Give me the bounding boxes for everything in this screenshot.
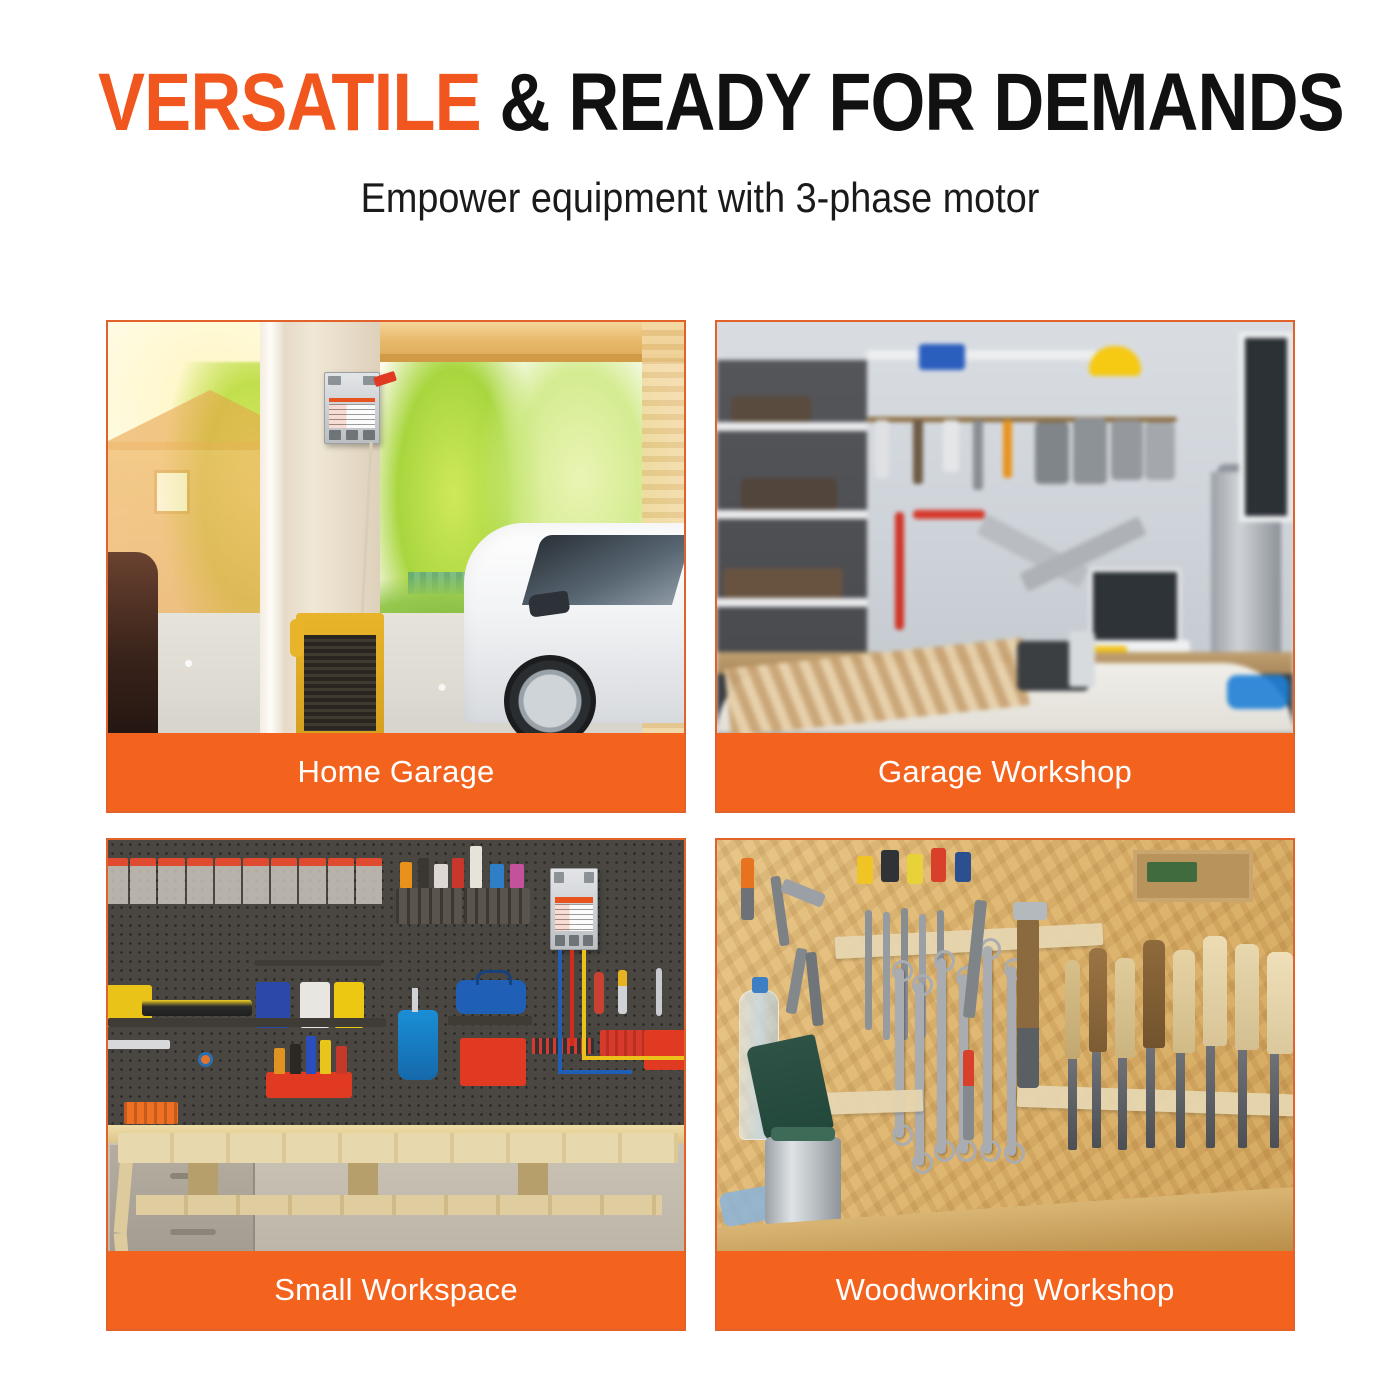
vevor-phase-converter (324, 372, 380, 444)
tool-rail (254, 960, 382, 966)
chisel-3 (1115, 958, 1135, 1150)
pallet-block-2 (348, 1163, 378, 1197)
orange-bin (124, 1102, 178, 1124)
chisel-7 (1235, 944, 1259, 1148)
metal-paint-canister (765, 1137, 841, 1229)
chisel-8 (1267, 952, 1293, 1148)
orange-handle-tool (741, 858, 754, 920)
chisel-4 (1143, 940, 1165, 1148)
blue-cloth (1227, 675, 1289, 709)
hanging-small-tool-4 (931, 848, 946, 882)
photo-home-garage (108, 322, 684, 733)
wrench-1 (895, 968, 904, 1138)
wall-shelf-box (1133, 850, 1253, 902)
shelving-unit (717, 360, 867, 652)
hanging-tool-2 (913, 420, 923, 484)
cabin-window (154, 470, 190, 514)
tray-bottle-4 (320, 1040, 331, 1074)
hanging-tool-4 (973, 420, 983, 490)
gauge-dial (198, 1052, 213, 1067)
blue-tool-bag (456, 980, 526, 1014)
bottle-orange (400, 862, 412, 888)
open-toolbox (1089, 568, 1181, 644)
red-bar-tool (913, 510, 985, 519)
spray-bottle (1069, 631, 1095, 687)
use-case-card-garage-workshop[interactable]: Garage Workshop (715, 320, 1295, 813)
bottle-pink (510, 864, 524, 888)
tray-bottle-2 (290, 1044, 301, 1074)
shelf-items-middle (741, 478, 837, 510)
wrench-2 (915, 982, 924, 1166)
red-tray-left (266, 1072, 352, 1098)
blue-wire (558, 950, 562, 1072)
card-caption-woodworking-workshop: Woodworking Workshop (717, 1251, 1293, 1329)
parts-bin-row (108, 858, 382, 904)
wrench (656, 968, 662, 1016)
red-hand-tool (895, 512, 904, 630)
pallet-leg-2 (114, 1233, 136, 1251)
tray-bottle-1 (274, 1048, 285, 1074)
use-case-grid: Home Garage (106, 320, 1295, 1331)
pallet-block-1 (188, 1163, 218, 1197)
screwdriver-tray (460, 1038, 526, 1086)
hanging-tool-1 (875, 420, 889, 478)
shelf-items-bottom (723, 568, 843, 598)
heater-handle (290, 619, 304, 657)
scene-garage-workshop (717, 322, 1293, 733)
roof-beam (370, 322, 684, 362)
bottle-dark (418, 858, 429, 888)
photo-garage-workshop (717, 322, 1293, 733)
upper-shelf (867, 350, 1097, 360)
file-1 (865, 910, 872, 1030)
wall-tray-left (396, 888, 462, 924)
yellow-wire-horizontal (582, 1056, 684, 1060)
scene-home-garage (108, 322, 684, 733)
file-2 (883, 912, 890, 1040)
chisel-1 (1065, 960, 1080, 1150)
dark-vehicle (108, 552, 158, 733)
chisel-5 (1173, 950, 1195, 1148)
converter-orange-stripe (555, 897, 594, 903)
hanging-tool-5 (1003, 420, 1012, 478)
yellow-space-heater (296, 613, 384, 733)
mallet-head (1013, 902, 1047, 920)
shelf-top (717, 422, 867, 431)
blue-wire-horizontal (558, 1070, 632, 1074)
converter-top-terminals (328, 376, 376, 385)
pliers (594, 972, 604, 1014)
screwdriver (618, 970, 627, 1014)
bottle-white (434, 864, 448, 888)
scene-small-workspace (108, 840, 684, 1251)
shelf-bottom (717, 598, 867, 607)
pallet-workbench (118, 1133, 678, 1249)
yellow-wire (582, 950, 586, 1060)
hanging-small-tool-5 (955, 852, 971, 882)
wrench-3 (937, 958, 946, 1154)
garage-pillar-edge (260, 322, 284, 733)
clamp-2 (1073, 418, 1107, 484)
converter-orange-stripe (329, 398, 374, 403)
use-case-card-small-workspace[interactable]: Small Workspace (106, 838, 686, 1331)
blue-power-drill (398, 1010, 438, 1080)
shelf-items-top (731, 396, 811, 422)
use-case-card-woodworking-workshop[interactable]: Woodworking Workshop (715, 838, 1295, 1331)
title-rest: & READY FOR DEMANDS (481, 57, 1344, 148)
clamp-3 (1111, 420, 1143, 480)
steel-ruler (108, 1040, 170, 1049)
page-title: VERSATILE & READY FOR DEMANDS (98, 62, 1302, 144)
promo-page: VERSATILE & READY FOR DEMANDS Empower eq… (0, 0, 1400, 1400)
chisel-6 (1203, 936, 1227, 1148)
hanging-tool-3 (943, 420, 959, 472)
vevor-phase-converter (550, 868, 598, 950)
red-wire (570, 950, 574, 1046)
converter-bottom-terminals (329, 430, 374, 440)
tray-bottle-3 (306, 1036, 316, 1074)
bottle-blue (490, 864, 504, 888)
converter-bottom-terminals (555, 935, 594, 946)
title-accent-word: VERSATILE (98, 57, 481, 148)
scene-woodworking-workshop (717, 840, 1293, 1251)
tray-bottle-5 (336, 1046, 347, 1074)
chisel-2 (1089, 948, 1107, 1148)
blue-container (919, 344, 965, 370)
hanging-small-tool-3 (907, 854, 923, 884)
converter-spec-label (329, 404, 374, 428)
hanging-small-tool-2 (881, 850, 899, 882)
page-subtitle: Empower equipment with 3-phase motor (70, 174, 1330, 222)
photo-woodworking-workshop (717, 840, 1293, 1251)
clamp-4 (1145, 422, 1175, 480)
wall-tray-right (464, 888, 530, 924)
clamp-1 (1035, 422, 1069, 484)
converter-top-terminals (554, 872, 594, 882)
shelf-middle (717, 510, 867, 519)
car-side-mirror (528, 590, 571, 617)
dark-window (1239, 332, 1293, 522)
pallet-lower-deck (136, 1195, 662, 1215)
header: VERSATILE & READY FOR DEMANDS Empower eq… (0, 0, 1400, 222)
pegboard-shelf (108, 1018, 386, 1027)
hanging-small-tool-1 (857, 856, 873, 884)
card-caption-garage-workshop: Garage Workshop (717, 733, 1293, 811)
converter-spec-label (555, 904, 594, 931)
bottle-red (452, 858, 464, 888)
red-handle-tool (963, 1050, 974, 1140)
tool-bag-shelf (448, 1016, 532, 1025)
spirit-level (142, 1000, 252, 1016)
bottle-tall-clear (470, 846, 482, 888)
card-caption-small-workspace: Small Workspace (108, 1251, 684, 1329)
wrench-5 (983, 946, 992, 1154)
photo-small-workspace (108, 840, 684, 1251)
hammer (1017, 918, 1039, 1088)
card-caption-home-garage: Home Garage (108, 733, 684, 811)
wrench-6 (1007, 966, 1016, 1156)
red-tray-right (644, 1030, 684, 1070)
pallet-block-3 (518, 1163, 548, 1197)
heater-grill (304, 635, 376, 731)
pallet-top-deck (118, 1133, 678, 1163)
use-case-card-home-garage[interactable]: Home Garage (106, 320, 686, 813)
